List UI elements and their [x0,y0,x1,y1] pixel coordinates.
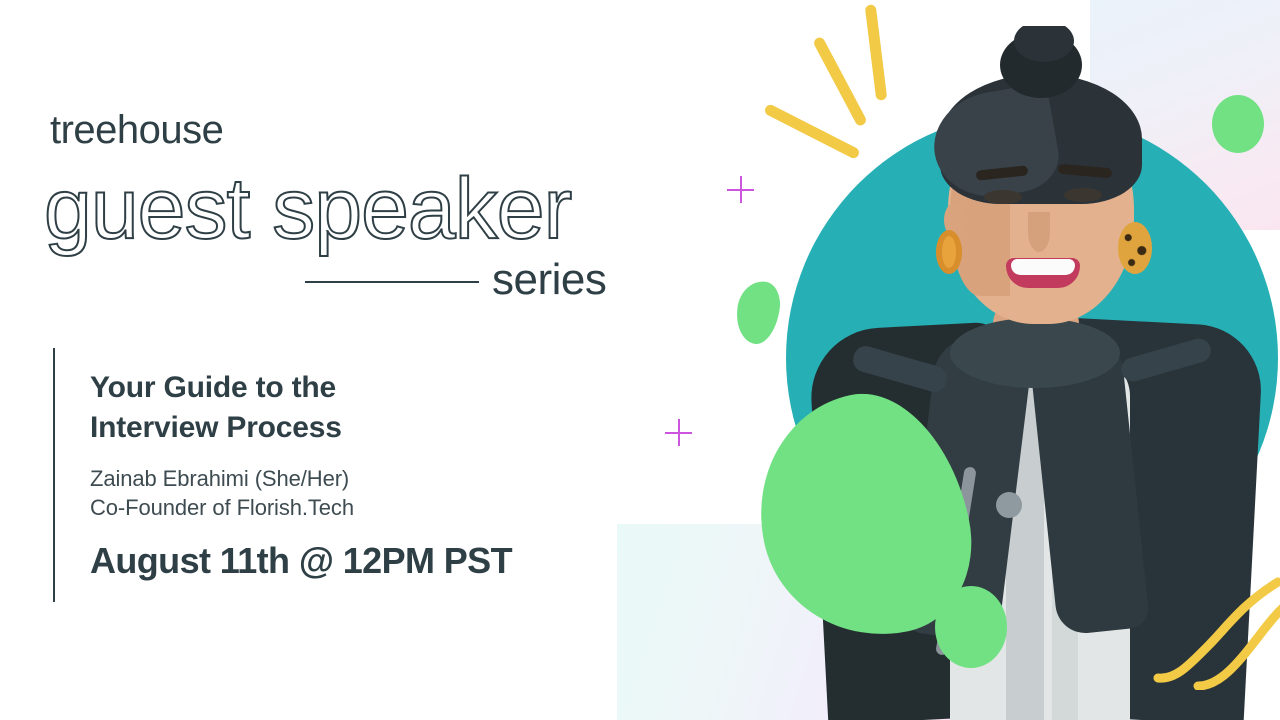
brand-wordmark: treehouse [50,108,223,153]
speaker-name: Zainab Ebrahimi (She/Her) [90,464,610,493]
nose [1028,212,1050,252]
event-info-block: Your Guide to the Interview Process Zain… [90,368,610,582]
eye-left [984,190,1022,204]
earring-left-icon [936,230,962,274]
vertical-accent-rule [53,348,55,602]
speaker-role: Co-Founder of Florish.Tech [90,493,610,522]
green-blob-small-icon [733,278,783,346]
talk-title-line-2: Interview Process [90,411,342,444]
earring-right-pattern [1118,222,1152,274]
series-word: series [492,255,606,305]
plus-mark-icon [665,419,692,446]
talk-title: Your Guide to the Interview Process [90,368,610,448]
teeth [1011,259,1075,275]
slide-canvas: treehouse guest speaker series Your Guid… [0,0,1280,720]
jacket-collar [950,318,1120,388]
jacket-stud [996,492,1022,518]
series-divider [305,281,479,283]
green-dot-bottom-icon [935,586,1007,668]
event-datetime: August 11th @ 12PM PST [90,540,610,582]
plus-mark-icon [727,176,754,203]
headline-outline: guest speaker [44,160,571,259]
talk-title-line-1: Your Guide to the [90,371,336,404]
wave-stroke-icon [1150,560,1280,690]
eye-right [1064,188,1102,202]
